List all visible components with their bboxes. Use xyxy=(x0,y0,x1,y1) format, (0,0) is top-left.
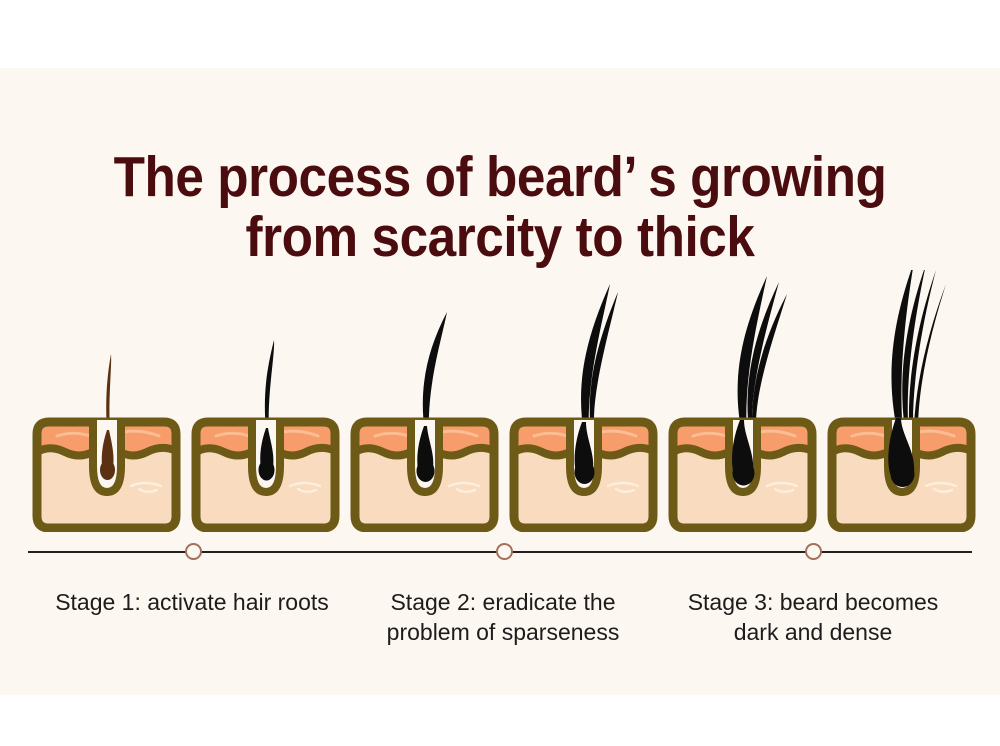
timeline-marker-3[interactable] xyxy=(805,543,822,560)
infographic-poster: The process of beard’ s growing from sca… xyxy=(0,0,1000,746)
title-line-2: from scarcity to thick xyxy=(50,208,950,266)
stage-timeline xyxy=(0,532,1000,574)
stage-caption-3: Stage 3: beard becomes dark and dense xyxy=(658,588,968,648)
stage-caption-3-line-1: Stage 3: beard becomes xyxy=(658,588,968,618)
title-line-1: The process of beard’ s growing xyxy=(50,148,950,206)
skin-block-stage1-b xyxy=(186,270,345,532)
skin-block-stage3-a xyxy=(663,270,822,532)
skin-illustration-strip xyxy=(0,270,1000,532)
stage-caption-2-line-2: problem of sparseness xyxy=(348,618,658,648)
stage-caption-1-line-1: Stage 1: activate hair roots xyxy=(18,588,366,618)
page-title: The process of beard’ s growing from sca… xyxy=(0,148,1000,266)
stage-caption-3-line-2: dark and dense xyxy=(658,618,968,648)
stage-caption-2: Stage 2: eradicate the problem of sparse… xyxy=(348,588,658,648)
stage-captions: Stage 1: activate hair roots Stage 2: er… xyxy=(0,588,1000,668)
skin-block-stage1-a xyxy=(27,270,186,532)
skin-block-stage2-b xyxy=(504,270,663,532)
timeline-marker-2[interactable] xyxy=(496,543,513,560)
timeline-marker-1[interactable] xyxy=(185,543,202,560)
stage-caption-2-line-1: Stage 2: eradicate the xyxy=(348,588,658,618)
stage-caption-1: Stage 1: activate hair roots xyxy=(18,588,366,618)
skin-block-stage2-a xyxy=(345,270,504,532)
skin-block-stage3-b xyxy=(822,270,981,532)
